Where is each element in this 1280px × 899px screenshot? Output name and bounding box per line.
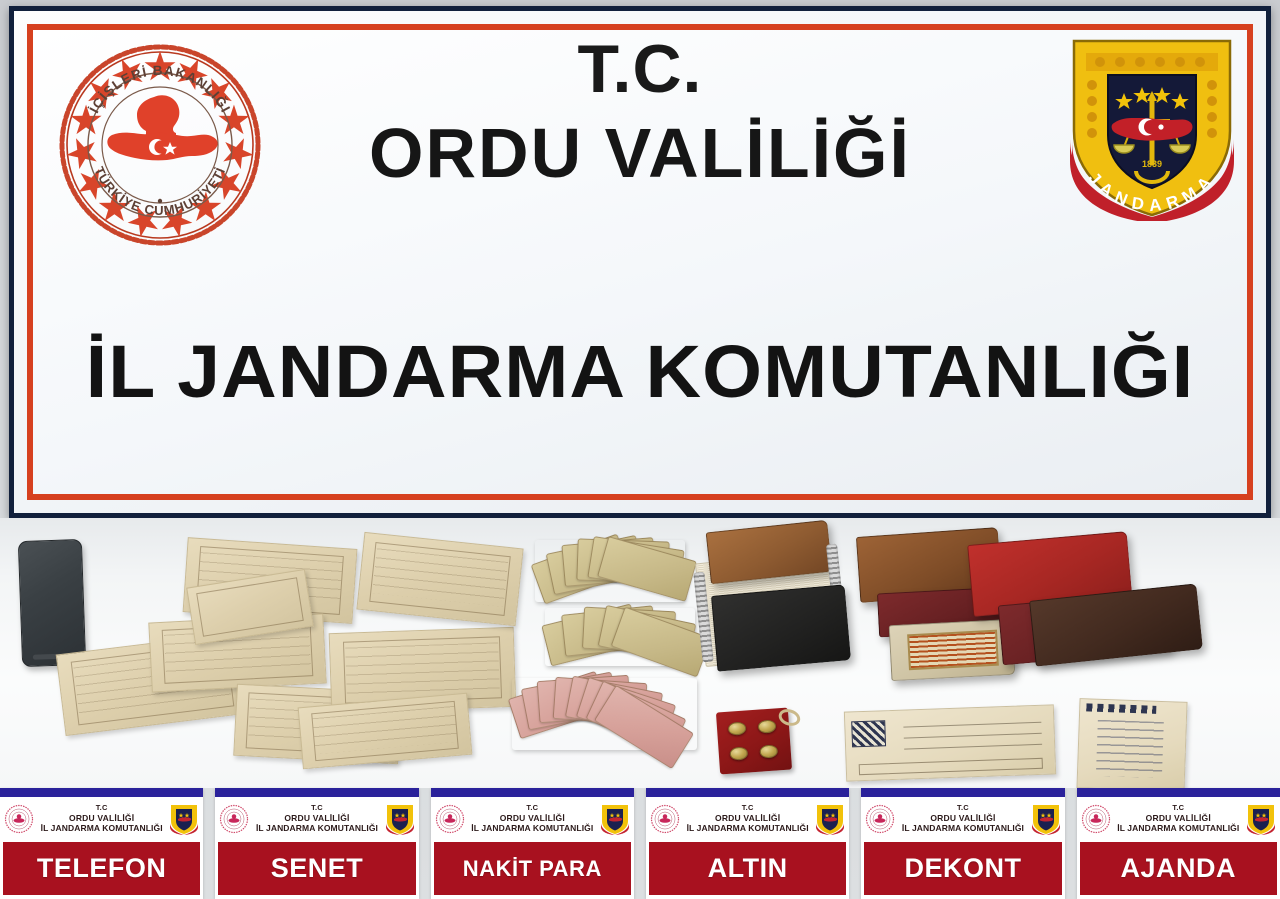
card-header-line3: İL JANDARMA KOMUTANLIĞI — [468, 823, 597, 833]
banner-content: İÇİŞLERİ BAKANLIĞI TÜRKİYE CUMHURİYETİ — [14, 11, 1266, 513]
evidence-document-sheet — [356, 532, 523, 626]
label-card-senet: T.C ORDU VALİLİĞİ İL JANDARMA KOMUTANLIĞ… — [215, 788, 418, 899]
card-header-line2: ORDU VALİLİĞİ — [898, 813, 1027, 823]
card-header-line1: T.C — [252, 804, 381, 813]
jandarma-emblem-icon — [815, 803, 845, 835]
card-header-text: T.C ORDU VALİLİĞİ İL JANDARMA KOMUTANLIĞ… — [683, 804, 812, 833]
evidence-handwritten-slip — [1076, 698, 1187, 788]
card-header-line2: ORDU VALİLİĞİ — [1114, 813, 1243, 823]
card-header-text: T.C ORDU VALİLİĞİ İL JANDARMA KOMUTANLIĞ… — [37, 804, 166, 833]
card-label-band: ALTIN — [649, 842, 846, 895]
card-top-bar — [861, 788, 1064, 797]
card-header-line2: ORDU VALİLİĞİ — [37, 813, 166, 823]
card-header-text: T.C ORDU VALİLİĞİ İL JANDARMA KOMUTANLIĞ… — [1114, 804, 1243, 833]
ministry-seal-icon — [1081, 804, 1111, 834]
screenshot-root: İÇİŞLERİ BAKANLIĞI TÜRKİYE CUMHURİYETİ — [0, 0, 1280, 899]
card-label-text: SENET — [271, 853, 364, 884]
card-header-line2: ORDU VALİLİĞİ — [252, 813, 381, 823]
card-header-line2: ORDU VALİLİĞİ — [468, 813, 597, 823]
evidence-document-sheet — [298, 693, 473, 770]
card-label-band: AJANDA — [1080, 842, 1277, 895]
agency-banner: İÇİŞLERİ BAKANLIĞI TÜRKİYE CUMHURİYETİ — [9, 6, 1271, 518]
card-top-bar — [431, 788, 634, 797]
card-header-line1: T.C — [683, 804, 812, 813]
evidence-banknote-stack — [512, 678, 697, 750]
banner-title-komutanlik: İL JANDARMA KOMUTANLIĞI — [0, 329, 1280, 414]
evidence-bank-receipt — [844, 704, 1056, 781]
card-top-bar — [1077, 788, 1280, 797]
card-label-text: ALTIN — [708, 853, 788, 884]
card-header-line3: İL JANDARMA KOMUTANLIĞI — [252, 823, 381, 833]
jandarma-emblem-icon — [1246, 803, 1276, 835]
card-header-line3: İL JANDARMA KOMUTANLIĞI — [898, 823, 1027, 833]
banner-title-tc: T.C. — [14, 35, 1266, 104]
card-label-text: DEKONT — [904, 853, 1021, 884]
jandarma-emblem-icon — [600, 803, 630, 835]
label-card-telefon: T.C ORDU VALİLİĞİ İL JANDARMA KOMUTANLIĞ… — [0, 788, 203, 899]
evidence-display-table — [0, 518, 1280, 788]
evidence-banknote-stack — [545, 608, 695, 666]
ministry-seal-icon — [865, 804, 895, 834]
card-header-line1: T.C — [1114, 804, 1243, 813]
card-label-band: DEKONT — [864, 842, 1061, 895]
ministry-seal-icon — [435, 804, 465, 834]
card-header-line3: İL JANDARMA KOMUTANLIĞI — [683, 823, 812, 833]
card-header-line1: T.C — [468, 804, 597, 813]
card-header: T.C ORDU VALİLİĞİ İL JANDARMA KOMUTANLIĞ… — [215, 797, 418, 840]
jandarma-emblem-icon — [169, 803, 199, 835]
card-header: T.C ORDU VALİLİĞİ İL JANDARMA KOMUTANLIĞ… — [861, 797, 1064, 840]
card-top-bar — [646, 788, 849, 797]
card-label-text: AJANDA — [1121, 853, 1237, 884]
card-header-line3: İL JANDARMA KOMUTANLIĞI — [1114, 823, 1243, 833]
card-header-text: T.C ORDU VALİLİĞİ İL JANDARMA KOMUTANLIĞ… — [898, 804, 1027, 833]
ministry-seal-icon — [219, 804, 249, 834]
card-header: T.C ORDU VALİLİĞİ İL JANDARMA KOMUTANLIĞ… — [0, 797, 203, 840]
evidence-notebook — [711, 584, 851, 671]
evidence-mobile-phone — [18, 539, 86, 667]
card-header-line1: T.C — [898, 804, 1027, 813]
card-header-text: T.C ORDU VALİLİĞİ İL JANDARMA KOMUTANLIĞ… — [468, 804, 597, 833]
evidence-label-card-row: T.C ORDU VALİLİĞİ İL JANDARMA KOMUTANLIĞ… — [0, 788, 1280, 899]
card-header-line2: ORDU VALİLİĞİ — [683, 813, 812, 823]
card-header-line1: T.C — [37, 804, 166, 813]
card-label-band: NAKİT PARA — [434, 842, 631, 895]
evidence-gold-coin-pouch — [716, 708, 792, 775]
banner-white-field: İÇİŞLERİ BAKANLIĞI TÜRKİYE CUMHURİYETİ — [14, 11, 1266, 513]
banner-title-valilik: ORDU VALİLİĞİ — [14, 110, 1266, 198]
banner-title-block: T.C. ORDU VALİLİĞİ — [14, 35, 1266, 198]
ministry-seal-icon — [4, 804, 34, 834]
card-label-text: NAKİT PARA — [463, 856, 602, 882]
card-header: T.C ORDU VALİLİĞİ İL JANDARMA KOMUTANLIĞ… — [431, 797, 634, 840]
jandarma-emblem-icon — [385, 803, 415, 835]
card-label-text: TELEFON — [37, 853, 167, 884]
ministry-seal-icon — [650, 804, 680, 834]
card-label-band: TELEFON — [3, 842, 200, 895]
jandarma-emblem-icon — [1031, 803, 1061, 835]
label-card-dekont: T.C ORDU VALİLİĞİ İL JANDARMA KOMUTANLIĞ… — [861, 788, 1064, 899]
card-label-band: SENET — [218, 842, 415, 895]
card-header-text: T.C ORDU VALİLİĞİ İL JANDARMA KOMUTANLIĞ… — [252, 804, 381, 833]
label-card-ajanda: T.C ORDU VALİLİĞİ İL JANDARMA KOMUTANLIĞ… — [1077, 788, 1280, 899]
label-card-nakit-para: T.C ORDU VALİLİĞİ İL JANDARMA KOMUTANLIĞ… — [431, 788, 634, 899]
evidence-banknote-stack — [535, 540, 685, 602]
card-header-line3: İL JANDARMA KOMUTANLIĞI — [37, 823, 166, 833]
evidence-book — [889, 619, 1016, 681]
label-card-altin: T.C ORDU VALİLİĞİ İL JANDARMA KOMUTANLIĞ… — [646, 788, 849, 899]
card-header: T.C ORDU VALİLİĞİ İL JANDARMA KOMUTANLIĞ… — [1077, 797, 1280, 840]
card-top-bar — [0, 788, 203, 797]
card-header: T.C ORDU VALİLİĞİ İL JANDARMA KOMUTANLIĞ… — [646, 797, 849, 840]
card-top-bar — [215, 788, 418, 797]
